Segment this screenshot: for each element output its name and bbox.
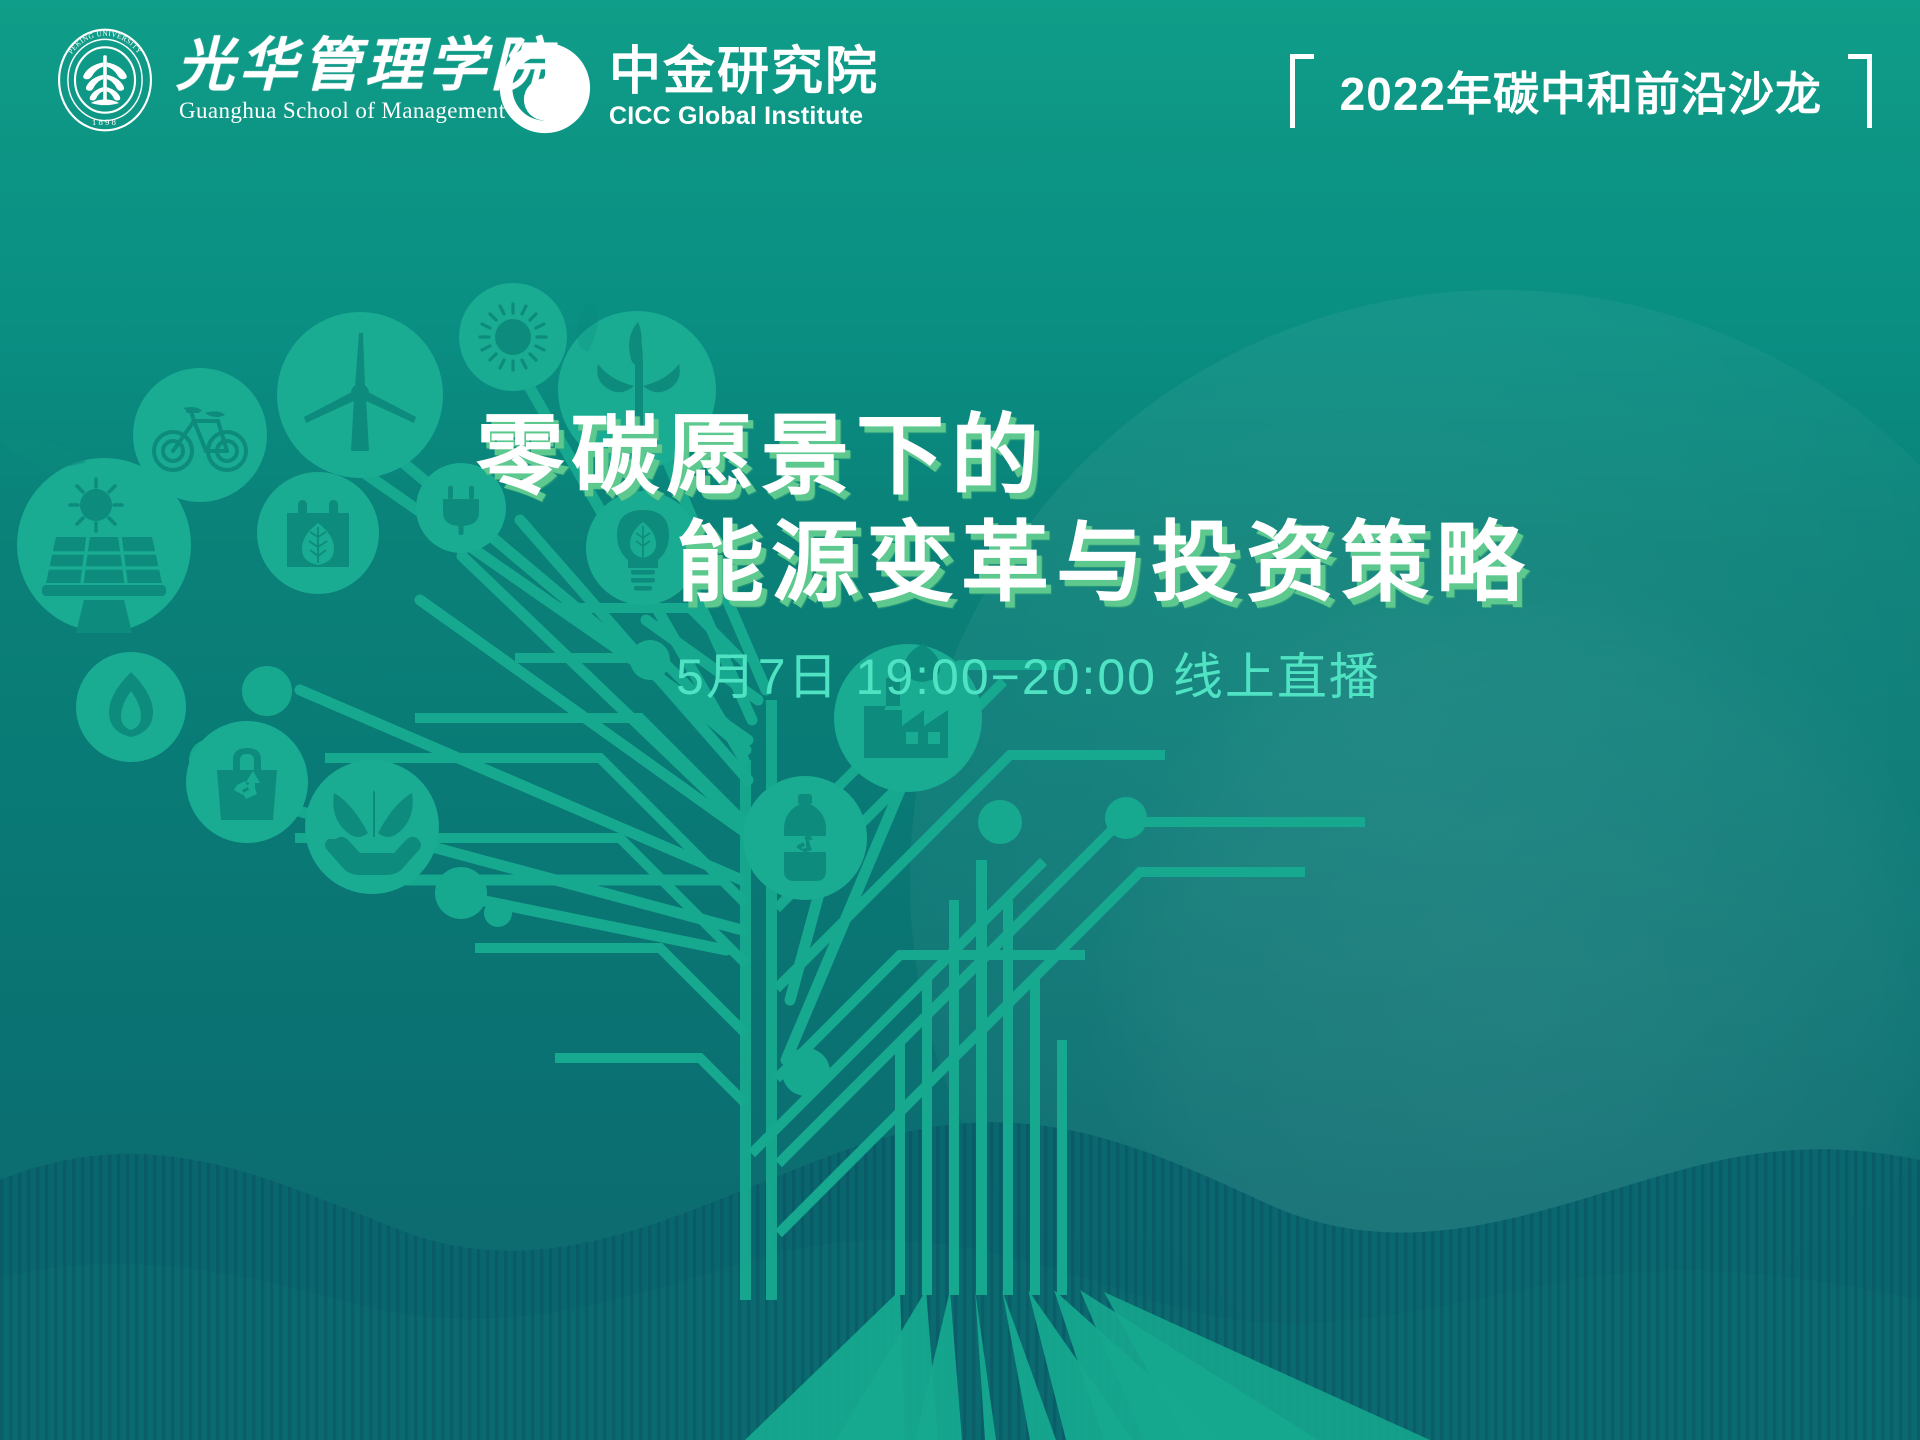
recycle-bottle-icon — [743, 776, 867, 900]
title-line-2: 能源变革与投资策略 — [676, 509, 1470, 616]
title-line-1: 零碳愿景下的 — [476, 402, 1470, 509]
cicc-logo: 中金研究院 CICC Global Institute — [497, 40, 879, 136]
tree-artwork — [0, 0, 1920, 1440]
event-subtitle: 5月7日 19:00−20:00 线上直播 — [676, 637, 1470, 709]
cicc-mark-icon — [497, 40, 593, 136]
wind-turbine-icon — [277, 312, 443, 478]
sun-icon — [459, 283, 567, 391]
cicc-name-cn: 中金研究院 — [609, 45, 879, 100]
recycle-bag-icon — [186, 721, 308, 843]
calendar-leaf-icon — [257, 472, 379, 594]
poster-header: PEKING UNIVERSITY 1898 光华管理学院 Guanghua S… — [0, 0, 1920, 160]
svg-text:1898: 1898 — [92, 117, 118, 127]
pku-guanghua-logo: PEKING UNIVERSITY 1898 光华管理学院 Guanghua S… — [52, 27, 554, 133]
cicc-name-en: CICC Global Institute — [609, 102, 879, 131]
bracket-left-icon — [1290, 54, 1314, 128]
event-poster: PEKING UNIVERSITY 1898 光华管理学院 Guanghua S… — [0, 0, 1920, 1440]
event-banner: 2022年碳中和前沿沙龙 — [1290, 54, 1872, 128]
flame-leaf-icon — [76, 652, 186, 762]
event-banner-label: 2022年碳中和前沿沙龙 — [1314, 58, 1848, 124]
title-block: 零碳愿景下的 能源变革与投资策略 5月7日 19:00−20:00 线上直播 — [470, 402, 1470, 709]
hands-leaf-icon — [305, 760, 439, 894]
bicycle-icon — [133, 368, 267, 502]
peking-university-seal-icon: PEKING UNIVERSITY 1898 — [52, 27, 158, 133]
bracket-right-icon — [1848, 54, 1872, 128]
